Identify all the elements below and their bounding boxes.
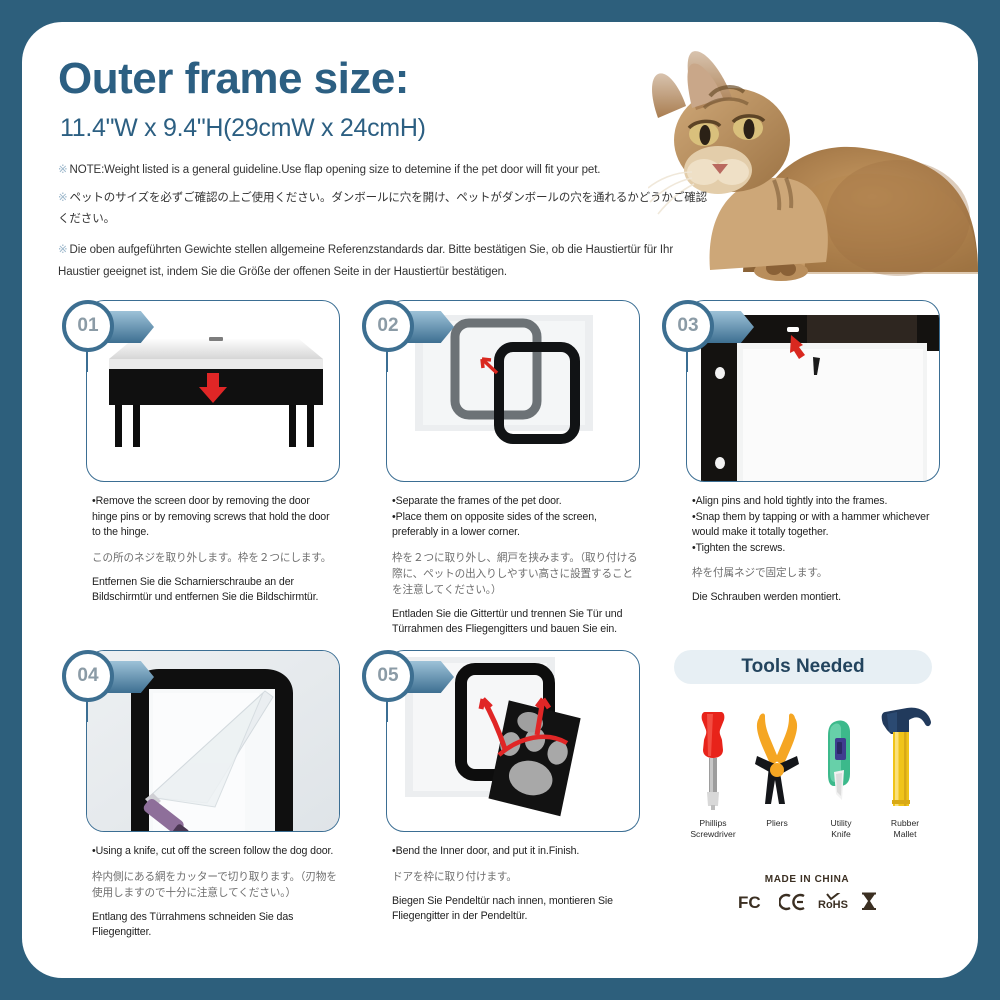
note-english-text: NOTE:Weight listed is a general guidelin… [70, 164, 601, 176]
step-panel-05: 05 •Bend the Inner door, and put it in.F… [362, 650, 638, 925]
step-text-en: •Align pins and hold tightly into the fr… [692, 494, 938, 556]
header: Outer frame size: 11.4"W x 9.4"H(29cmW x… [22, 22, 978, 282]
note-german: ※Die oben aufgeführten Gewichte stellen … [58, 239, 708, 283]
note-japanese: ※ペットのサイズを必ずご確認の上ご使用ください。ダンボールに穴を開け、ペットがダ… [58, 188, 718, 230]
badge-stem [86, 700, 88, 722]
step-panel-01: 01 •Remove the screen door by removing t… [62, 300, 338, 606]
step-text-de: Entladen Sie die Gittertür und trennen S… [392, 607, 638, 638]
note-german-text: Die oben aufgeführten Gewichte stellen a… [58, 244, 673, 278]
step-badge-03: 03 [662, 300, 782, 354]
note-japanese-text: ペットのサイズを必ずご確認の上ご使用ください。ダンボールに穴を開け、ペットがダン… [58, 192, 707, 225]
step-number: 03 [662, 300, 714, 352]
note-mark-icon: ※ [58, 192, 68, 204]
utility-knife-icon [812, 702, 870, 812]
step-number: 05 [362, 650, 414, 702]
step-badge-04: 04 [62, 650, 182, 704]
tool-label: Pliers [748, 818, 806, 829]
tool-label: Phillips Screwdriver [684, 818, 742, 840]
instruction-sheet: Outer frame size: 11.4"W x 9.4"H(29cmW x… [22, 22, 978, 978]
weee-icon [861, 892, 877, 916]
note-mark-icon: ※ [58, 244, 68, 256]
badge-stem [86, 350, 88, 372]
tool-label: Rubber Mallet [876, 818, 934, 840]
pliers-icon [748, 702, 806, 812]
step-badge-01: 01 [62, 300, 182, 354]
tools-needed-section: Tools Needed Phillips Screwdriver [662, 650, 952, 916]
badge-stem [386, 350, 388, 372]
svg-text:RoHS: RoHS [818, 899, 848, 911]
rubber-mallet-icon [876, 702, 934, 812]
rohs-icon: RoHS [818, 893, 850, 916]
step-text-jp: 枠を付属ネジで固定します。 [692, 565, 938, 581]
note-mark-icon: ※ [58, 164, 68, 176]
ce-icon [779, 893, 807, 916]
tool-item: Phillips Screwdriver [684, 702, 742, 840]
step-text-en: •Separate the frames of the pet door. •P… [392, 494, 638, 541]
tool-label: Utility Knife [812, 818, 870, 840]
tool-list: Phillips Screwdriver Pliers [684, 702, 934, 840]
page-title: Outer frame size: [58, 54, 409, 104]
step-text-de: Biegen Sie Pendeltür nach innen, montier… [392, 894, 638, 925]
step-badge-02: 02 [362, 300, 482, 354]
badge-stem [386, 700, 388, 722]
step-panel-04: 04 •Using a knife, cut off the screen fo… [62, 650, 338, 941]
made-in-label: MADE IN CHINA [662, 874, 952, 885]
tool-item: Utility Knife [812, 702, 870, 840]
certification-marks: FC RoHS [662, 892, 952, 916]
step-text-de: Entfernen Sie die Scharnierschraube an d… [92, 575, 338, 606]
fcc-icon: FC [738, 893, 768, 916]
step-number: 01 [62, 300, 114, 352]
svg-text:FC: FC [738, 893, 761, 911]
step-text-jp: ドアを枠に取り付けます。 [392, 869, 638, 885]
step-badge-05: 05 [362, 650, 482, 704]
phillips-screwdriver-icon [684, 702, 742, 812]
step-02-text: •Separate the frames of the pet door. •P… [392, 494, 638, 638]
badge-stem [686, 350, 688, 372]
step-text-jp: 枠内側にある網をカッターで切り取ります。（刃物を使用しますので十分に注意してくだ… [92, 869, 338, 901]
step-text-de: Die Schrauben werden montiert. [692, 590, 938, 606]
step-text-en: •Remove the screen door by removing the … [92, 494, 338, 541]
tool-item: Rubber Mallet [876, 702, 934, 840]
step-number: 02 [362, 300, 414, 352]
tool-item: Pliers [748, 702, 806, 840]
step-panel-02: 02 •Separate the frames of the pet door.… [362, 300, 638, 638]
tools-needed-title: Tools Needed [674, 650, 932, 684]
frame-size-text: 11.4"W x 9.4"H(29cmW x 24cmH) [60, 114, 426, 143]
step-text-de: Entlang des Türrahmens schneiden Sie das… [92, 910, 338, 941]
step-number: 04 [62, 650, 114, 702]
note-english: ※NOTE:Weight listed is a general guideli… [58, 161, 718, 179]
step-03-text: •Align pins and hold tightly into the fr… [692, 494, 938, 606]
step-text-en: •Bend the Inner door, and put it in.Fini… [392, 844, 638, 860]
step-text-jp: この所のネジを取り外します。枠を２つにします。 [92, 550, 338, 566]
step-01-text: •Remove the screen door by removing the … [92, 494, 338, 606]
step-05-text: •Bend the Inner door, and put it in.Fini… [392, 844, 638, 925]
step-panel-03: 03 •Align pins and hold tightly into the… [662, 300, 938, 606]
step-text-jp: 枠を２つに取り外し、網戸を挟みます。（取り付ける際に、ペットの出入りしやすい高さ… [392, 550, 638, 598]
step-text-en: •Using a knife, cut off the screen follo… [92, 844, 338, 860]
step-04-text: •Using a knife, cut off the screen follo… [92, 844, 338, 941]
